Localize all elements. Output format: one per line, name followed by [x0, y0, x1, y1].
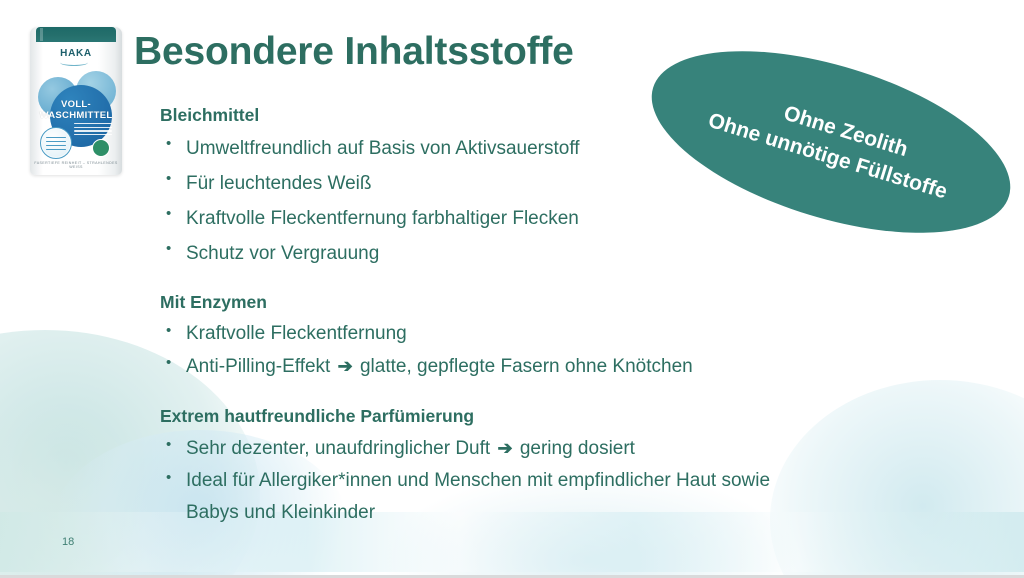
- package-seal-icon: [40, 127, 72, 159]
- bullet-icon: •: [160, 201, 186, 227]
- list-item-label: Umweltfreundlich auf Basis von Aktivsaue…: [186, 131, 990, 166]
- bullet-icon: •: [160, 465, 186, 491]
- arrow-right-icon: ➔: [495, 438, 514, 458]
- bullet-icon: •: [160, 166, 186, 192]
- list-item-text-after: gering dosiert: [515, 438, 635, 459]
- list-item-text-before: Anti-Pilling-Effekt: [186, 356, 336, 377]
- brand-swoosh-icon: [60, 59, 88, 66]
- list-item-text-before: Sehr dezenter, unaufdringlicher Duft: [186, 438, 495, 459]
- bullet-icon: •: [160, 318, 186, 344]
- bullet-icon: •: [160, 350, 186, 376]
- bullet-icon: •: [160, 432, 186, 458]
- page-title: Besondere Inhaltsstoffe: [134, 30, 574, 74]
- list-item-label: Kraftvolle Fleckentfernung: [186, 318, 990, 350]
- list-item: • Kraftvolle Fleckentfernung: [160, 318, 990, 350]
- slide-number: 18: [62, 536, 74, 548]
- section-mit-enzymen: Mit Enzymen • Kraftvolle Fleckentfernung…: [160, 291, 990, 383]
- list-item: • Kraftvolle Fleckentfernung farbhaltige…: [160, 201, 990, 236]
- background-blob-left: [0, 400, 140, 578]
- list-item-label: Anti-Pilling-Effekt ➔ glatte, gepflegte …: [186, 350, 990, 383]
- list-item-label: Kraftvolle Fleckentfernung farbhaltiger …: [186, 201, 990, 236]
- list-item-text-after: glatte, gepflegte Fasern ohne Knötchen: [355, 356, 693, 377]
- section-heading: Bleichmittel: [160, 104, 990, 126]
- section-parfuemierung: Extrem hautfreundliche Parfümierung • Se…: [160, 405, 990, 529]
- brand-logo-text: HAKA: [30, 48, 122, 59]
- package-name-line2: WASCHMITTEL: [40, 110, 113, 121]
- list-item: • Für leuchtendes Weiß: [160, 166, 990, 201]
- list-item-label: Sehr dezenter, unaufdringlicher Duft ➔ g…: [186, 432, 990, 465]
- list-item: • Ideal für Allergiker*innen und Mensche…: [160, 465, 990, 529]
- list-item: • Anti-Pilling-Effekt ➔ glatte, gepflegt…: [160, 350, 990, 383]
- package-tagline: FASERTIEFE REINHEIT – STRAHLENDES WEISS: [30, 161, 122, 169]
- section-bleichmittel: Bleichmittel • Umweltfreundlich auf Basi…: [160, 104, 990, 271]
- package-product-name: VOLL- WASCHMITTEL: [30, 99, 122, 121]
- list-item: • Sehr dezenter, unaufdringlicher Duft ➔…: [160, 432, 990, 465]
- slide-canvas: HAKA VOLL- WASCHMITTEL FASERTIEFE REINHE…: [0, 0, 1024, 578]
- bullet-icon: •: [160, 236, 186, 262]
- list-item-line-1: Ideal für Allergiker*innen und Menschen …: [186, 470, 770, 491]
- section-heading: Mit Enzymen: [160, 291, 990, 313]
- arrow-right-icon: ➔: [336, 356, 355, 376]
- content-body: Bleichmittel • Umweltfreundlich auf Basi…: [160, 104, 990, 529]
- section-heading: Extrem hautfreundliche Parfümierung: [160, 405, 990, 427]
- list-item-label: Ideal für Allergiker*innen und Menschen …: [186, 465, 990, 529]
- list-item-line-2: Babys und Kleinkinder: [186, 502, 375, 523]
- list-item: • Schutz vor Vergrauung: [160, 236, 990, 271]
- list-item-label: Für leuchtendes Weiß: [186, 166, 990, 201]
- package-name-line1: VOLL-: [61, 99, 91, 110]
- package-eco-badge-icon: [92, 139, 110, 157]
- list-item-label: Schutz vor Vergrauung: [186, 236, 990, 271]
- product-package-image: HAKA VOLL- WASCHMITTEL FASERTIEFE REINHE…: [30, 27, 122, 175]
- package-top-seal: [36, 27, 116, 42]
- bullet-icon: •: [160, 131, 186, 157]
- package-feature-lines: [74, 123, 112, 137]
- package-bag: HAKA VOLL- WASCHMITTEL FASERTIEFE REINHE…: [30, 27, 122, 175]
- list-item: • Umweltfreundlich auf Basis von Aktivsa…: [160, 131, 990, 166]
